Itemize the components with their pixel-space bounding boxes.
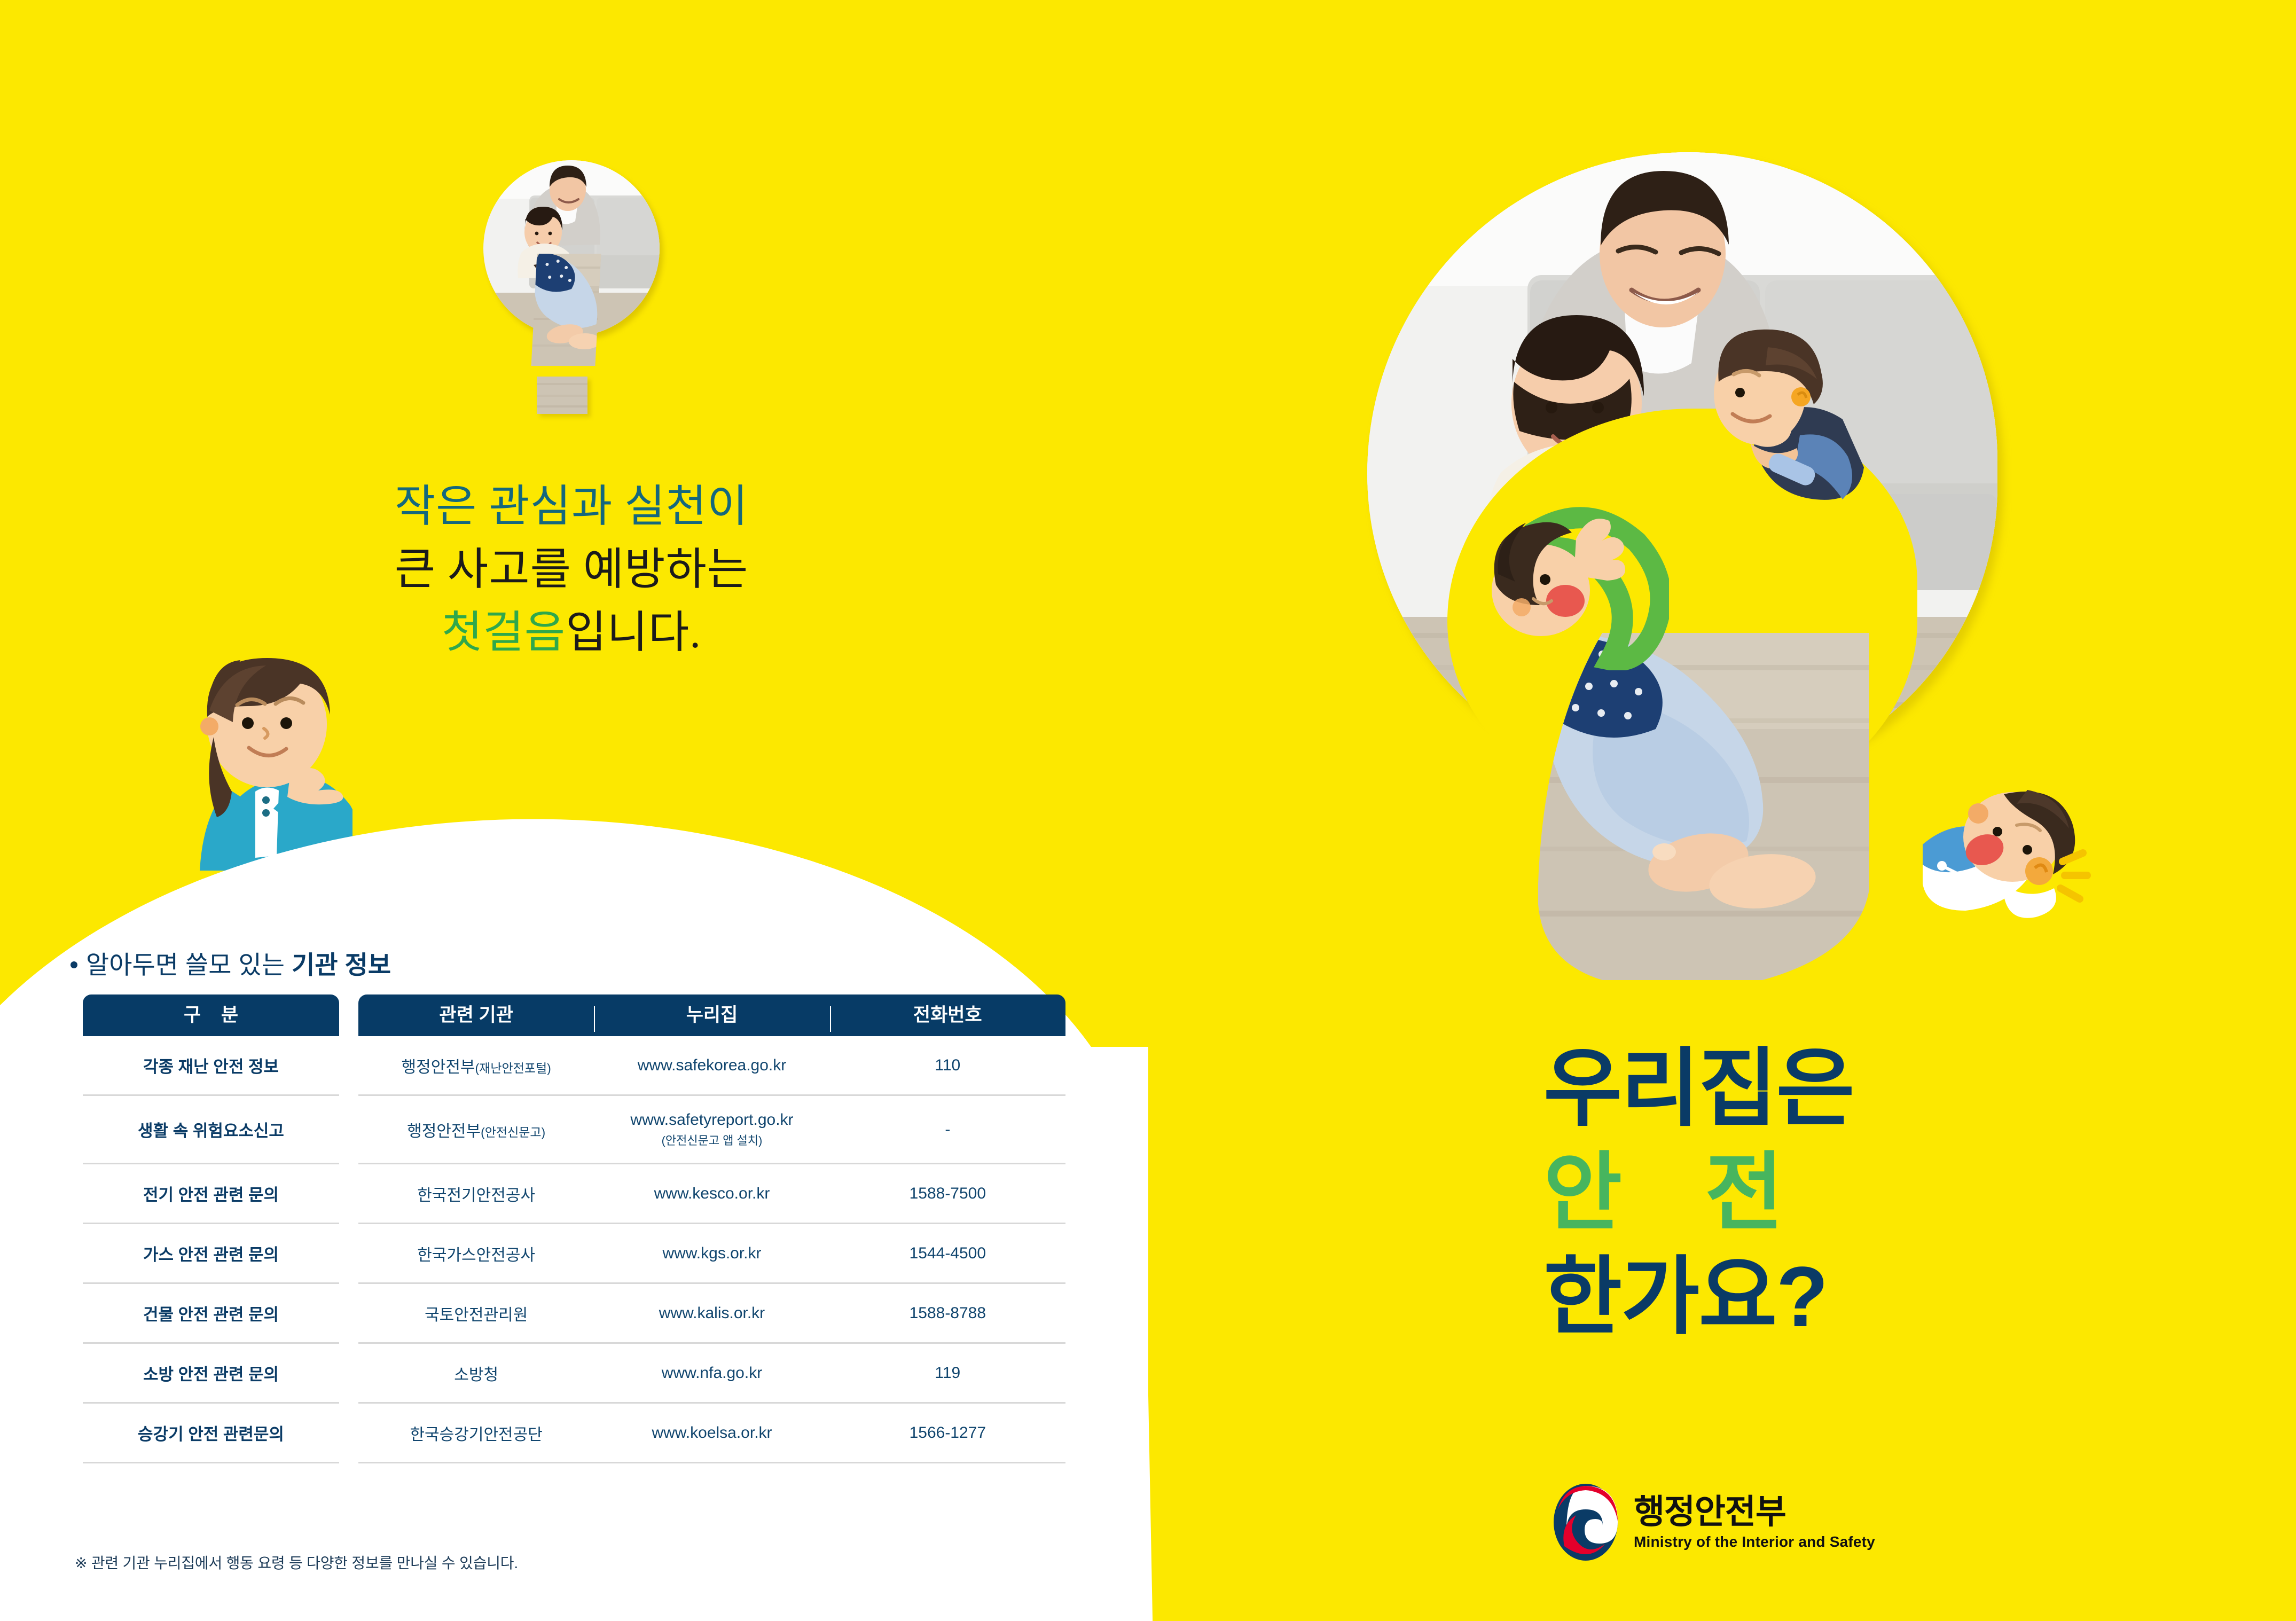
info-section-heading: 알아두면 쓸모 있는 기관 정보 [70,944,391,981]
cell-organization: 한국승강기안전공단 [358,1404,594,1463]
cell-organization: 행정안전부(재난안전포털) [358,1036,594,1096]
table-header-category: 구 분 [83,994,339,1036]
title-line-2-left: 안 [1543,1145,1705,1240]
table-row: 가스 안전 관련 문의 한국가스안전공사 www.kgs.or.kr 1544-… [83,1224,1065,1284]
cell-organization: 소방청 [358,1344,594,1404]
website-url[interactable]: www.kgs.or.kr [662,1244,761,1263]
cell-organization: 한국전기안전공사 [358,1164,594,1224]
table-footnote: ※ 관련 기관 누리집에서 행동 요령 등 다양한 정보를 만나실 수 있습니다… [75,1552,518,1573]
table-header-row: 구 분 관련 기관 누리집 전화번호 [83,994,1065,1036]
row-rest: 행정안전부(안전신문고) www.safetyreport.go.kr(안전신문… [358,1096,1065,1164]
bullet-icon [70,961,77,968]
website-url[interactable]: www.safekorea.go.kr [638,1056,786,1075]
title-line-3: 한가요? [1543,1244,2131,1349]
woman-stretching-character [1466,494,1669,670]
cell-category: 건물 안전 관련 문의 [83,1284,339,1344]
cell-phone: 1566-1277 [830,1404,1065,1463]
man-thinking-character [1688,328,1864,510]
cell-category: 소방 안전 관련 문의 [83,1344,339,1404]
table-row: 각종 재난 안전 정보 행정안전부(재난안전포털) www.safekorea.… [83,1036,1065,1096]
boy-shouting-character [1923,766,2099,927]
woman-pointing-character [176,657,352,871]
cell-website[interactable]: www.safetyreport.go.kr(안전신문고 앱 설치) [594,1096,829,1164]
info-heading-bold: 기관 정보 [292,951,391,979]
table-header-website: 누리집 [594,994,829,1036]
cell-organization: 국토안전관리원 [358,1284,594,1344]
cell-phone: - [830,1096,1065,1164]
institution-info-table: 구 분 관련 기관 누리집 전화번호 각종 재난 안전 정보 행정안전부(재난안… [83,994,1065,1463]
table-row: 승강기 안전 관련문의 한국승강기안전공단 www.koelsa.or.kr 1… [83,1404,1065,1463]
tagline-line-3-black: 입니다. [566,608,701,657]
row-rest: 행정안전부(재난안전포털) www.safekorea.go.kr 110 [358,1036,1065,1096]
cell-phone: 1588-7500 [830,1164,1065,1224]
cell-website[interactable]: www.safekorea.go.kr [594,1036,829,1096]
website-url[interactable]: www.kesco.or.kr [654,1185,770,1203]
tagline-line-3-green: 첫걸음 [442,608,566,657]
row-rest: 한국가스안전공사 www.kgs.or.kr 1544-4500 [358,1224,1065,1284]
row-rest: 한국전기안전공사 www.kesco.or.kr 1588-7500 [358,1164,1065,1224]
cell-website[interactable]: www.koelsa.or.kr [594,1404,829,1463]
cell-phone: 119 [830,1344,1065,1404]
table-header-phone: 전화번호 [830,994,1065,1036]
cell-category: 생활 속 위험요소신고 [83,1096,339,1164]
ministry-logo: 행정안전부 Ministry of the Interior and Safet… [1551,1482,1875,1562]
row-rest: 소방청 www.nfa.go.kr 119 [358,1344,1065,1404]
row-rest: 한국승강기안전공단 www.koelsa.or.kr 1566-1277 [358,1404,1065,1463]
question-mark-photo-small [483,160,660,417]
poster-main-title: 우리집은 안전 한가요? [1543,1036,2131,1349]
title-line-2-right: 전 [1705,1145,1782,1240]
cell-category: 전기 안전 관련 문의 [83,1164,339,1224]
cell-website[interactable]: www.kgs.or.kr [594,1224,829,1284]
table-header-organization: 관련 기관 [358,994,594,1036]
title-line-2: 안전 [1543,1140,2131,1244]
website-url[interactable]: www.kalis.or.kr [659,1304,765,1322]
cell-website[interactable]: www.kesco.or.kr [594,1164,829,1224]
website-subnote: (안전신문고 앱 설치) [662,1131,763,1148]
question-mark-photo-large [1367,152,2078,985]
ministry-name-english: Ministry of the Interior and Safety [1634,1534,1875,1549]
tagline-headline: 작은 관심과 실천이 큰 사고를 예방하는 첫걸음입니다. [369,475,774,664]
org-text: 행정안전부(재난안전포털) [402,1054,551,1077]
table-header-group: 관련 기관 누리집 전화번호 [358,994,1065,1036]
cell-category: 승강기 안전 관련문의 [83,1404,339,1463]
photo-illustration-small-stem [531,254,601,366]
photo-illustration-legs [1538,633,1869,985]
cell-phone: 1588-8788 [830,1284,1065,1344]
photo-small-stem [531,254,601,366]
cell-website[interactable]: www.kalis.or.kr [594,1284,829,1344]
table-row: 전기 안전 관련 문의 한국전기안전공사 www.kesco.or.kr 158… [83,1164,1065,1224]
tagline-line-1: 작은 관심과 실천이 [369,475,774,538]
table-row: 건물 안전 관련 문의 국토안전관리원 www.kalis.or.kr 1588… [83,1284,1065,1344]
org-text: 행정안전부(안전신문고) [407,1118,545,1141]
cell-organization: 행정안전부(안전신문고) [358,1096,594,1164]
cell-category: 각종 재난 안전 정보 [83,1036,339,1096]
website-url[interactable]: www.safetyreport.go.kr [630,1111,793,1129]
taegeuk-icon [1551,1482,1620,1562]
tagline-line-2: 큰 사고를 예방하는 [369,538,774,601]
info-heading-normal: 알아두면 쓸모 있는 [86,951,292,979]
website-url[interactable]: www.nfa.go.kr [662,1364,762,1382]
cell-organization: 한국가스안전공사 [358,1224,594,1284]
ministry-logo-text: 행정안전부 Ministry of the Interior and Safet… [1634,1495,1875,1549]
photo-large-stem [1538,633,1869,985]
cell-category: 가스 안전 관련 문의 [83,1224,339,1284]
ministry-name-korean: 행정안전부 [1634,1495,1875,1529]
cell-phone: 1544-4500 [830,1224,1065,1284]
photo-illustration-small-dot [537,377,587,414]
table-row: 생활 속 위험요소신고 행정안전부(안전신문고) www.safetyrepor… [83,1096,1065,1164]
cell-phone: 110 [830,1036,1065,1096]
tagline-line-3: 첫걸음입니다. [369,601,774,664]
table-row: 소방 안전 관련 문의 소방청 www.nfa.go.kr 119 [83,1344,1065,1404]
title-line-1: 우리집은 [1543,1036,2131,1140]
photo-small-dot [537,377,587,414]
row-rest: 국토안전관리원 www.kalis.or.kr 1588-8788 [358,1284,1065,1344]
cell-website[interactable]: www.nfa.go.kr [594,1344,829,1404]
poster-canvas: 작은 관심과 실천이 큰 사고를 예방하는 첫걸음입니다. 알아두면 쓸모 있는… [0,0,2296,1621]
website-url[interactable]: www.koelsa.or.kr [652,1424,772,1442]
